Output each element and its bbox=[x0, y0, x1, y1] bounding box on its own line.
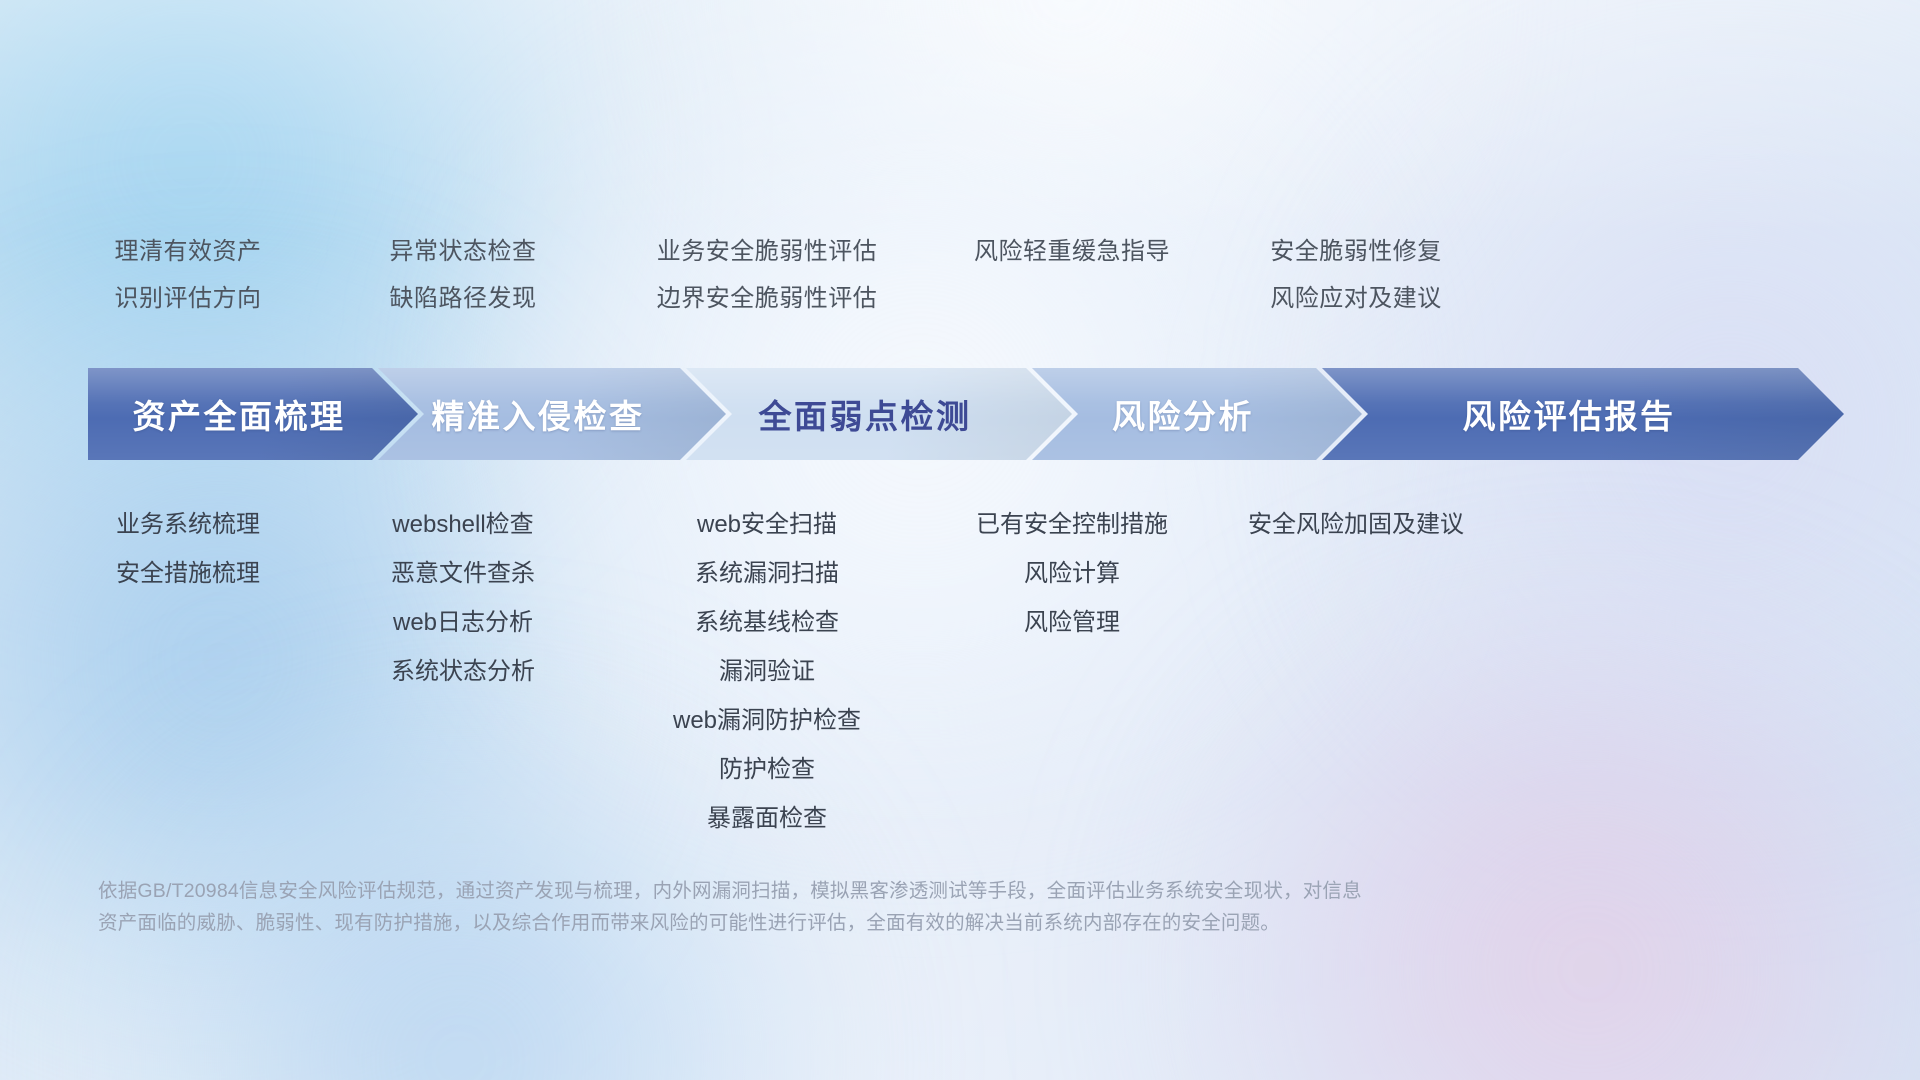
top-note-item: 异常状态检查 bbox=[390, 228, 537, 275]
stage-title-intrusion-check: 精准入侵检查 bbox=[432, 390, 645, 438]
top-note-item: 边界安全脆弱性评估 bbox=[657, 275, 878, 322]
footer-line-2: 资产面临的威胁、脆弱性、现有防护措施，以及综合作用而带来风险的可能性进行评估，全… bbox=[98, 907, 1738, 939]
top-note-item: 识别评估方向 bbox=[115, 275, 262, 322]
stage-title-weakness-detection: 全面弱点检测 bbox=[759, 390, 972, 438]
detail-item: 安全措施梳理 bbox=[116, 549, 260, 598]
detail-item: 恶意文件查杀 bbox=[391, 549, 535, 598]
detail-item: 风险计算 bbox=[976, 549, 1168, 598]
process-stage-intrusion-check[interactable]: 精准入侵检查 bbox=[378, 368, 726, 460]
diagram-canvas: 理清有效资产识别评估方向异常状态检查缺陷路径发现业务安全脆弱性评估边界安全脆弱性… bbox=[0, 0, 1920, 1080]
top-note-item: 缺陷路径发现 bbox=[390, 275, 537, 322]
detail-list-intrusion-check: webshell检查恶意文件查杀web日志分析系统状态分析 bbox=[391, 500, 535, 696]
stage-title-risk-analysis: 风险分析 bbox=[1112, 390, 1254, 438]
diagram-content: 理清有效资产识别评估方向异常状态检查缺陷路径发现业务安全脆弱性评估边界安全脆弱性… bbox=[0, 0, 1920, 1080]
detail-item: 系统漏洞扫描 bbox=[673, 549, 861, 598]
detail-item: 风险管理 bbox=[976, 598, 1168, 647]
top-note-item: 风险应对及建议 bbox=[1270, 275, 1442, 322]
detail-item: 系统基线检查 bbox=[673, 598, 861, 647]
top-note-item: 理清有效资产 bbox=[115, 228, 262, 275]
detail-list-weakness-detection: web安全扫描系统漏洞扫描系统基线检查漏洞验证web漏洞防护检查防护检查暴露面检… bbox=[673, 500, 861, 843]
detail-item: webshell检查 bbox=[391, 500, 535, 549]
detail-item: 暴露面检查 bbox=[673, 794, 861, 843]
top-note-item: 安全脆弱性修复 bbox=[1270, 228, 1442, 275]
detail-item: 安全风险加固及建议 bbox=[1248, 500, 1464, 549]
detail-item: web漏洞防护检查 bbox=[673, 696, 861, 745]
process-stage-risk-report[interactable]: 风险评估报告 bbox=[1322, 368, 1844, 460]
detail-item: 漏洞验证 bbox=[673, 647, 861, 696]
detail-item: 防护检查 bbox=[673, 745, 861, 794]
detail-item: 已有安全控制措施 bbox=[976, 500, 1168, 549]
process-stage-asset-inventory[interactable]: 资产全面梳理 bbox=[88, 368, 418, 460]
process-stage-weakness-detection[interactable]: 全面弱点检测 bbox=[686, 368, 1072, 460]
process-stage-risk-analysis[interactable]: 风险分析 bbox=[1032, 368, 1362, 460]
detail-list-risk-report: 安全风险加固及建议 bbox=[1248, 500, 1464, 549]
stage-title-asset-inventory: 资产全面梳理 bbox=[133, 390, 346, 438]
detail-item: web日志分析 bbox=[391, 598, 535, 647]
footer-line-1: 依据GB/T20984信息安全风险评估规范，通过资产发现与梳理，内外网漏洞扫描，… bbox=[98, 875, 1738, 907]
process-chevron-strip: 资产全面梳理精准入侵检查全面弱点检测风险分析风险评估报告 bbox=[88, 368, 1844, 460]
stage-title-risk-report: 风险评估报告 bbox=[1463, 390, 1676, 438]
detail-item: 系统状态分析 bbox=[391, 647, 535, 696]
footer-description: 依据GB/T20984信息安全风险评估规范，通过资产发现与梳理，内外网漏洞扫描，… bbox=[98, 875, 1738, 939]
top-note-item: 业务安全脆弱性评估 bbox=[657, 228, 878, 275]
detail-list-risk-analysis: 已有安全控制措施风险计算风险管理 bbox=[976, 500, 1168, 647]
detail-item: web安全扫描 bbox=[673, 500, 861, 549]
detail-list-asset-inventory: 业务系统梳理安全措施梳理 bbox=[116, 500, 260, 598]
detail-item: 业务系统梳理 bbox=[116, 500, 260, 549]
top-note-item: 风险轻重缓急指导 bbox=[974, 228, 1170, 275]
